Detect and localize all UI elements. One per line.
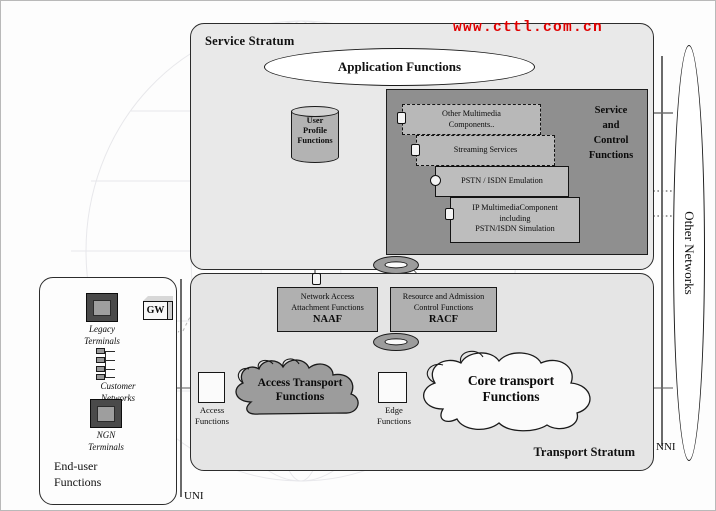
pstn-isdn-emulation-label: PSTN / ISDN Emulation	[436, 176, 568, 187]
ctf-line-2: Functions	[413, 389, 609, 405]
edge-functions-box	[378, 372, 407, 403]
network-stub	[105, 351, 115, 352]
legacy-terminals-label: Legacy Terminals	[65, 324, 139, 347]
other-multimedia-components-box: Other Multimedia Components..	[402, 104, 541, 135]
core-transport-functions-label: Core transport Functions	[413, 373, 609, 406]
lt-line-1: Legacy	[65, 324, 139, 336]
service-transport-ring-connector	[373, 256, 419, 274]
core-transport-functions-cloud: Core transport Functions	[413, 349, 609, 433]
legacy-terminal-icon	[86, 293, 118, 322]
euf-line-1: End-user	[54, 458, 101, 474]
nt-line-1: NGN	[69, 430, 143, 442]
network-node	[96, 357, 105, 363]
network-node	[96, 348, 105, 354]
naaf-box: Network Access Attachment Functions NAAF	[277, 287, 378, 332]
other-networks-label: Other Networks	[681, 211, 697, 294]
imc-line-2: including	[454, 214, 576, 225]
racf-line-2: Control Functions	[391, 303, 496, 314]
service-and-control-functions-label: Service and Control Functions	[580, 104, 642, 164]
nni-reference-line	[661, 56, 663, 446]
pstn-isdn-emulation-box: PSTN / ISDN Emulation	[435, 166, 569, 197]
omc-line-2: Components..	[406, 120, 537, 131]
ngn-terminals-label: NGN Terminals	[69, 430, 143, 453]
scf-line-3: Control	[580, 134, 642, 149]
imc-line-1: IP MultimediaComponent	[454, 203, 576, 214]
transport-stratum-label: Transport Stratum	[533, 445, 635, 460]
customer-networks-icon	[96, 348, 120, 380]
atf-line-2: Functions	[229, 390, 371, 404]
access-transport-functions-cloud: Access Transport Functions	[229, 356, 371, 424]
atf-line-1: Access Transport	[229, 376, 371, 390]
watermark-url-text: www.cttl.com.cn	[453, 20, 603, 36]
access-functions-box	[198, 372, 225, 403]
component-port-icon	[445, 208, 454, 220]
user-profile-functions-label: User Profile Functions	[291, 116, 339, 146]
pie-line-1: PSTN / ISDN Emulation	[439, 176, 565, 187]
network-stub	[105, 360, 115, 361]
network-bus-line	[105, 351, 106, 377]
scf-line-4: Functions	[580, 149, 642, 164]
scf-line-1: Service	[580, 104, 642, 119]
component-port-icon	[397, 112, 406, 124]
ip-multimedia-component-label: IP MultimediaComponent including PSTN/IS…	[451, 203, 579, 235]
nni-label: NNI	[656, 441, 676, 453]
ctf-line-1: Core transport	[413, 373, 609, 389]
gw-side-face	[168, 301, 173, 320]
streaming-services-box: Streaming Services	[416, 135, 555, 166]
scf-line-2: and	[580, 119, 642, 134]
naaf-line-1: Network Access	[278, 292, 377, 303]
cn-line-1: Customer	[79, 381, 157, 393]
naaf-line-2: Attachment Functions	[278, 303, 377, 314]
gw-label: GW	[143, 301, 168, 320]
ip-multimedia-component-box: IP MultimediaComponent including PSTN/IS…	[450, 197, 580, 243]
uni-label: UNI	[184, 490, 204, 502]
other-multimedia-components-label: Other Multimedia Components..	[403, 109, 540, 130]
imc-line-3: PSTN/ISDN Simulation	[454, 224, 576, 235]
naaf-acronym: NAAF	[278, 314, 377, 325]
service-stratum-label: Service Stratum	[205, 34, 294, 49]
lt-line-2: Terminals	[65, 336, 139, 348]
upf-line-3: Functions	[291, 136, 339, 146]
other-networks-node: Other Networks	[673, 45, 705, 461]
upf-line-1: User	[291, 116, 339, 126]
ring-hole	[385, 338, 408, 345]
application-functions-node: Application Functions	[264, 48, 535, 86]
service-and-control-functions-box: Service and Control Functions Other Mult…	[386, 89, 648, 255]
uni-reference-line	[180, 279, 182, 497]
racf-acronym: RACF	[391, 314, 496, 325]
network-node	[96, 366, 105, 372]
ngn-architecture-diagram: 通信标 准研究 所 NGN 标准研	[0, 0, 716, 511]
ngn-terminal-icon	[90, 399, 122, 428]
naaf-port-icon	[312, 273, 321, 285]
component-port-icon	[411, 144, 420, 156]
end-user-functions-label: End-user Functions	[54, 458, 101, 490]
ss-line-1: Streaming Services	[420, 145, 551, 156]
application-functions-label: Application Functions	[338, 59, 461, 75]
network-node	[96, 374, 105, 380]
upf-line-2: Profile	[291, 126, 339, 136]
streaming-services-label: Streaming Services	[417, 145, 554, 156]
ring-hole	[385, 261, 408, 268]
racf-line-1: Resource and Admission	[391, 292, 496, 303]
access-transport-functions-label: Access Transport Functions	[229, 376, 371, 405]
component-port-icon	[430, 175, 441, 186]
nt-line-2: Terminals	[69, 442, 143, 454]
euf-line-2: Functions	[54, 474, 101, 490]
racf-box: Resource and Admission Control Functions…	[390, 287, 497, 332]
network-stub	[105, 377, 115, 378]
user-profile-functions-node: User Profile Functions	[291, 106, 339, 165]
omc-line-1: Other Multimedia	[406, 109, 537, 120]
gateway-icon: GW	[143, 296, 173, 320]
network-stub	[105, 369, 115, 370]
